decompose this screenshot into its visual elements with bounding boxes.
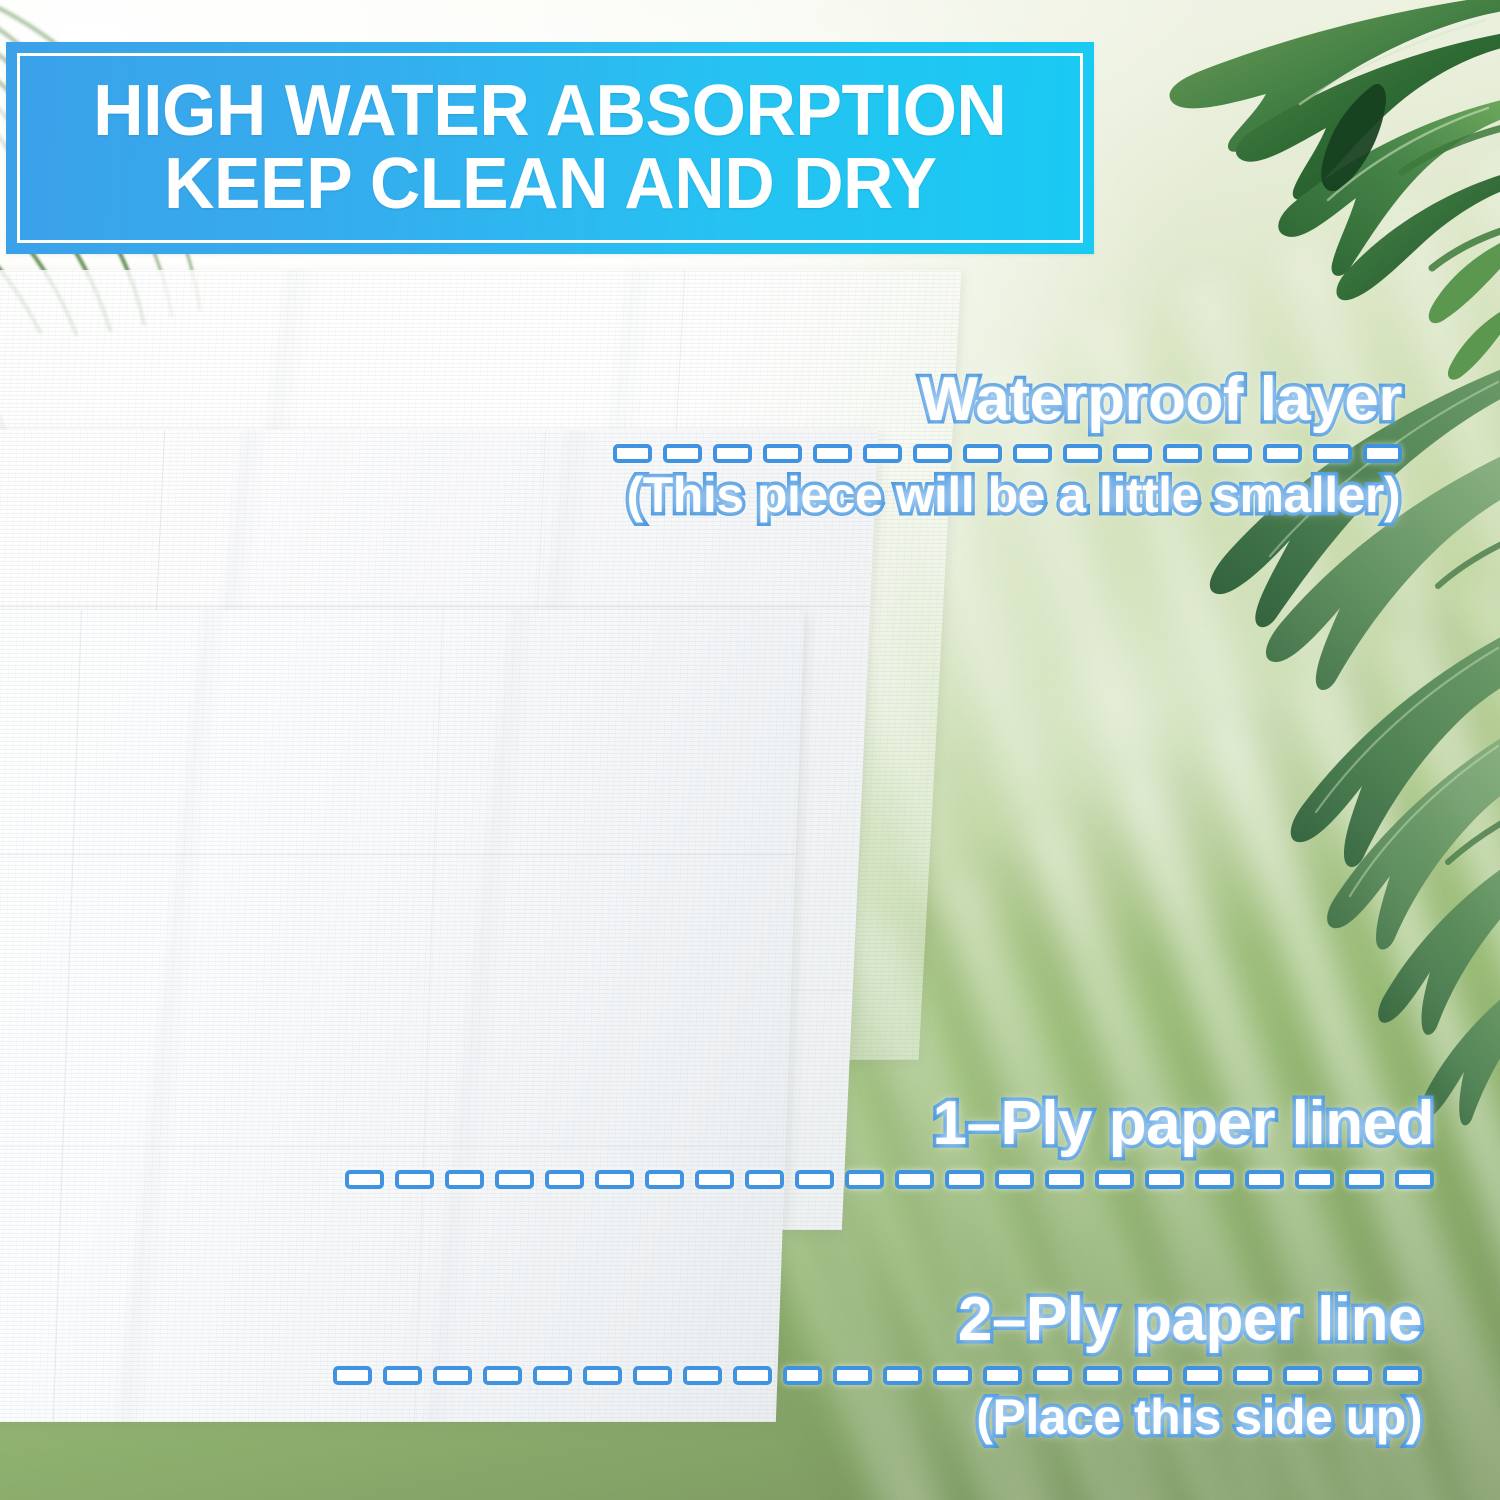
dash-segment xyxy=(883,1366,922,1385)
callout-one-ply-title: 1–Ply paper lined xyxy=(933,1092,1435,1156)
dash-segment xyxy=(813,444,852,463)
callout-waterproof-note: (This piece will be a little smaller) xyxy=(627,469,1400,521)
callout-waterproof-layer: Waterproof layer (This piece will be a l… xyxy=(613,368,1402,521)
dash-segment xyxy=(713,444,752,463)
dash-segment xyxy=(783,1366,822,1385)
dash-segment xyxy=(1333,1366,1372,1385)
dash-segment xyxy=(1245,1170,1284,1189)
dash-segment xyxy=(1195,1170,1234,1189)
dash-segment xyxy=(1063,444,1102,463)
dash-segment xyxy=(913,444,952,463)
dash-segment xyxy=(763,444,802,463)
callout-two-ply-paper: 2–Ply paper line (Place this side up) xyxy=(333,1288,1422,1443)
headline-text-block: HIGH WATER ABSORPTION KEEP CLEAN AND DRY xyxy=(6,42,1094,254)
headline-banner: HIGH WATER ABSORPTION KEEP CLEAN AND DRY xyxy=(6,42,1094,254)
dash-segment xyxy=(1095,1170,1134,1189)
dash-segment xyxy=(1033,1366,1072,1385)
dash-segment xyxy=(1345,1170,1384,1189)
dash-segment xyxy=(383,1366,422,1385)
dash-segment xyxy=(495,1170,534,1189)
dash-segment xyxy=(1113,444,1152,463)
dash-segment xyxy=(1283,1366,1322,1385)
headline-line-2: KEEP CLEAN AND DRY xyxy=(164,149,937,220)
dash-segment xyxy=(583,1366,622,1385)
dash-segment xyxy=(433,1366,472,1385)
dash-segment xyxy=(1145,1170,1184,1189)
dash-segment xyxy=(933,1366,972,1385)
dash-segment xyxy=(895,1170,934,1189)
callout-waterproof-dashline xyxy=(613,444,1402,463)
dash-segment xyxy=(1295,1170,1334,1189)
dash-segment xyxy=(613,444,652,463)
dash-segment xyxy=(1083,1366,1122,1385)
dash-segment xyxy=(963,444,1002,463)
dash-segment xyxy=(333,1366,372,1385)
dash-segment xyxy=(683,1366,722,1385)
background-light-glow-secondary xyxy=(780,450,1470,960)
dash-segment xyxy=(1383,1366,1422,1385)
dash-segment xyxy=(863,444,902,463)
dash-segment xyxy=(1233,1366,1272,1385)
dash-segment xyxy=(1395,1170,1434,1189)
dash-segment xyxy=(1045,1170,1084,1189)
dash-segment xyxy=(1313,444,1352,463)
dash-segment xyxy=(663,444,702,463)
dash-segment xyxy=(633,1366,672,1385)
dash-segment xyxy=(1263,444,1302,463)
dash-segment xyxy=(1133,1366,1172,1385)
callout-one-ply-dashline xyxy=(345,1170,1434,1189)
dash-segment xyxy=(595,1170,634,1189)
callout-waterproof-title: Waterproof layer xyxy=(920,368,1402,432)
callout-two-ply-note: (Place this side up) xyxy=(976,1391,1422,1443)
dash-segment xyxy=(1213,444,1252,463)
dash-segment xyxy=(745,1170,784,1189)
dash-segment xyxy=(533,1366,572,1385)
dash-segment xyxy=(833,1366,872,1385)
dash-segment xyxy=(445,1170,484,1189)
dash-segment xyxy=(995,1170,1034,1189)
dash-segment xyxy=(945,1170,984,1189)
headline-line-1: HIGH WATER ABSORPTION xyxy=(93,76,1006,147)
callout-two-ply-title: 2–Ply paper line xyxy=(958,1288,1422,1352)
callout-two-ply-dashline xyxy=(333,1366,1422,1385)
dash-segment xyxy=(645,1170,684,1189)
dash-segment xyxy=(483,1366,522,1385)
product-feature-image: HIGH WATER ABSORPTION KEEP CLEAN AND DRY… xyxy=(0,0,1500,1500)
dash-segment xyxy=(983,1366,1022,1385)
dash-segment xyxy=(1013,444,1052,463)
dash-segment xyxy=(545,1170,584,1189)
dash-segment xyxy=(695,1170,734,1189)
dash-segment xyxy=(795,1170,834,1189)
dash-segment xyxy=(1163,444,1202,463)
dash-segment xyxy=(1363,444,1402,463)
dash-segment xyxy=(395,1170,434,1189)
dash-segment xyxy=(733,1366,772,1385)
dash-segment xyxy=(345,1170,384,1189)
callout-one-ply-paper: 1–Ply paper lined xyxy=(345,1092,1434,1189)
dash-segment xyxy=(1183,1366,1222,1385)
dash-segment xyxy=(845,1170,884,1189)
